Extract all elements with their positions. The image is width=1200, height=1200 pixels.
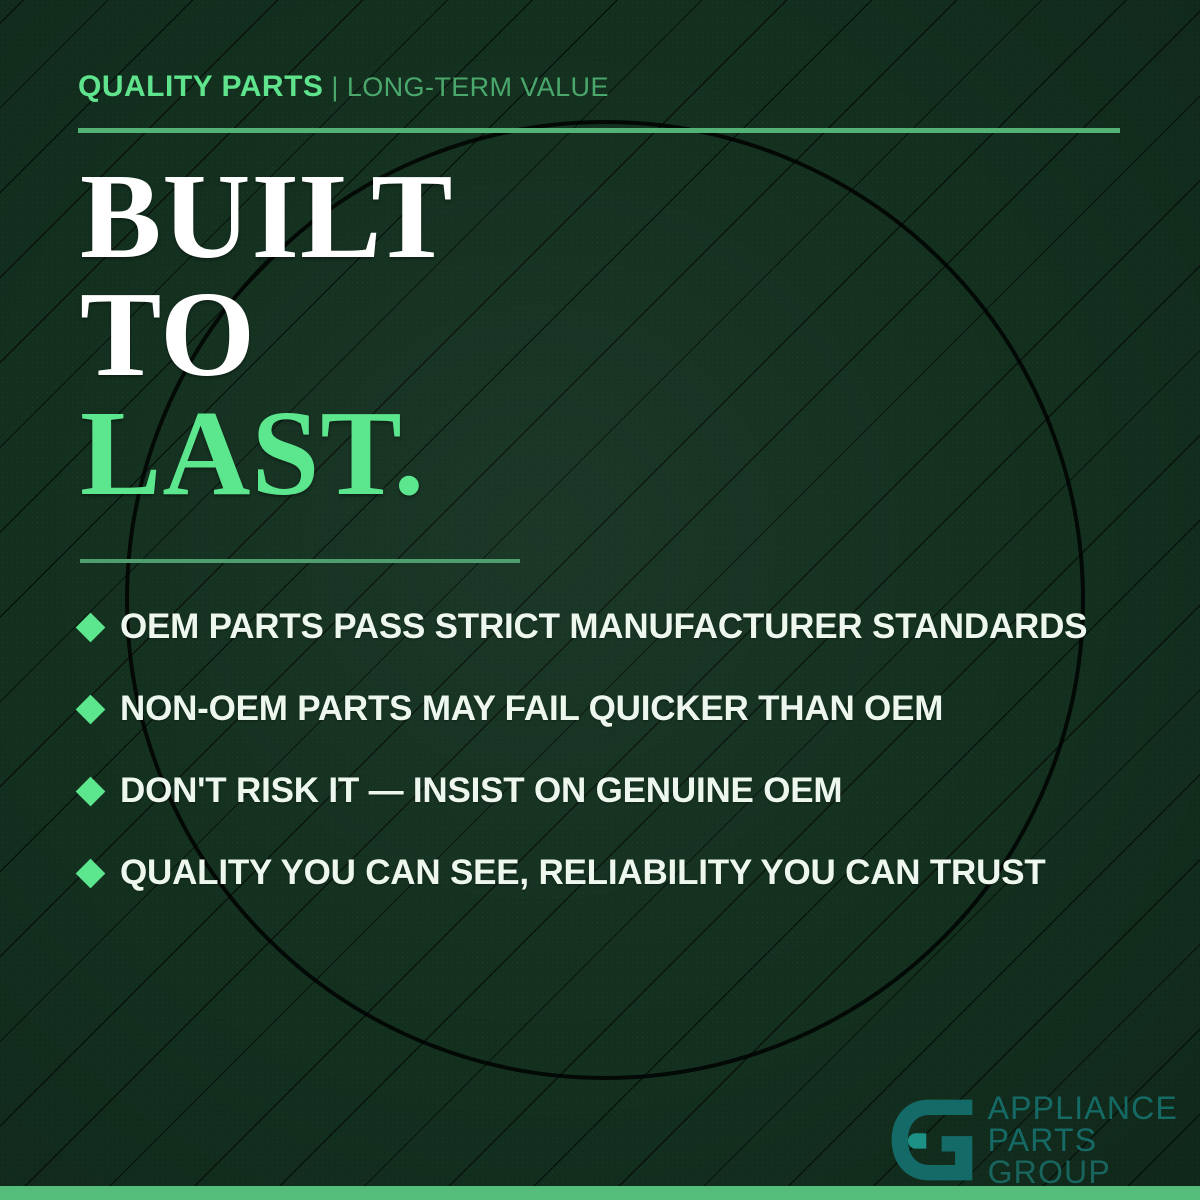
benefit-list: OEM PARTS PASS STRICT MANUFACTURER STAND… (80, 586, 1150, 914)
diamond-bullet-icon (76, 694, 106, 724)
headline-block: BUILT TO LAST. (80, 158, 454, 513)
eyebrow-divider: | (331, 72, 338, 102)
diamond-bullet-icon (76, 858, 106, 888)
eyebrow-header: QUALITY PARTS|LONG-TERM VALUE (78, 70, 609, 104)
list-item-label: NON-OEM PARTS MAY FAIL QUICKER THAN OEM (120, 689, 943, 729)
headline-line-1: BUILT (80, 158, 454, 276)
brand-word-2: PARTS (988, 1124, 1178, 1156)
headline-line-2: TO (80, 276, 454, 394)
brand-word-3: GROUP (988, 1156, 1178, 1188)
diamond-bullet-icon (76, 776, 106, 806)
list-item-label: DON'T RISK IT — INSIST ON GENUINE OEM (120, 771, 842, 811)
brand-word-1: APPLIANCE (988, 1092, 1178, 1124)
poster-canvas: QUALITY PARTS|LONG-TERM VALUE BUILT TO L… (0, 0, 1200, 1200)
eyebrow-kicker: QUALITY PARTS (78, 70, 323, 103)
list-item: NON-OEM PARTS MAY FAIL QUICKER THAN OEM (80, 668, 1150, 750)
headline-line-3: LAST. (80, 395, 454, 513)
bottom-accent-bar (0, 1186, 1200, 1200)
headline-divider-rule (80, 559, 520, 563)
list-item-label: QUALITY YOU CAN SEE, RELIABILITY YOU CAN… (120, 853, 1046, 893)
brand-wordmark: APPLIANCE PARTS GROUP (988, 1092, 1178, 1188)
diamond-bullet-icon (76, 612, 106, 642)
g-monogram-icon (884, 1092, 980, 1188)
list-item-label: OEM PARTS PASS STRICT MANUFACTURER STAND… (120, 607, 1087, 647)
eyebrow-subtitle: LONG-TERM VALUE (347, 72, 609, 102)
header-divider-rule (78, 128, 1120, 133)
list-item: OEM PARTS PASS STRICT MANUFACTURER STAND… (80, 586, 1150, 668)
list-item: QUALITY YOU CAN SEE, RELIABILITY YOU CAN… (80, 832, 1150, 914)
list-item: DON'T RISK IT — INSIST ON GENUINE OEM (80, 750, 1150, 832)
brand-logo: APPLIANCE PARTS GROUP (884, 1092, 1178, 1188)
